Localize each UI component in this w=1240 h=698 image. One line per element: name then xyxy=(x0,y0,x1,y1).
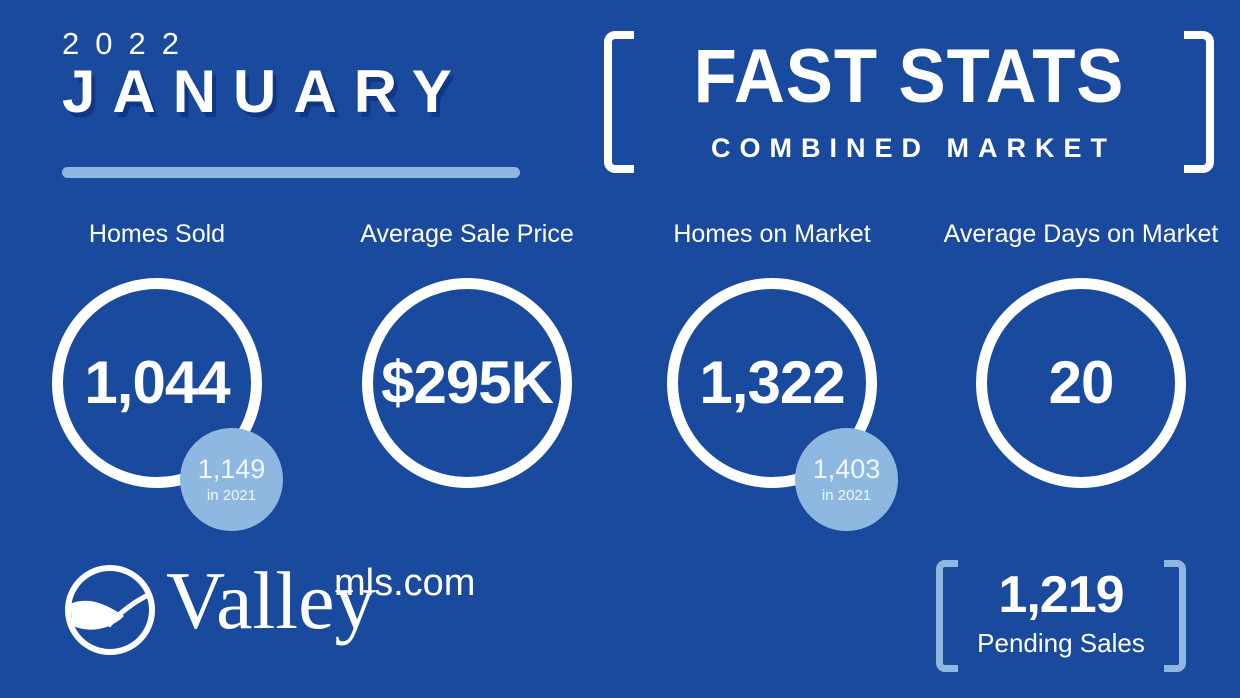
comparison-note: in 2021 xyxy=(207,488,256,503)
fast-stats-banner: FAST STATS COMBINED MARKET xyxy=(604,31,1214,173)
pending-sales-value: 1,219 xyxy=(936,569,1186,621)
valleymls-logo: Valley mls.com xyxy=(62,558,442,658)
stat-comparison-badge: 1,149 in 2021 xyxy=(180,428,283,531)
stat-label: Homes on Market xyxy=(673,222,870,247)
comparison-note: in 2021 xyxy=(822,488,871,503)
stat-value: $295K xyxy=(337,278,597,488)
fast-stats-title: FAST STATS xyxy=(625,39,1192,115)
fast-stats-infographic: 2022 JANUARY FAST STATS COMBINED MARKET … xyxy=(0,0,1240,698)
header-divider-rule xyxy=(62,167,520,178)
comparison-value: 1,403 xyxy=(813,456,881,483)
comparison-value: 1,149 xyxy=(198,456,266,483)
fast-stats-subtitle: COMBINED MARKET xyxy=(604,135,1214,162)
logo-tld: mls.com xyxy=(334,564,475,602)
stat-comparison-badge: 1,403 in 2021 xyxy=(795,428,898,531)
stat-label: Average Days on Market xyxy=(944,222,1219,247)
header-month: JANUARY xyxy=(62,62,469,122)
stat-label: Homes Sold xyxy=(89,222,225,247)
stat-value: 20 xyxy=(951,278,1211,488)
pending-sales-block: 1,219 Pending Sales xyxy=(936,560,1186,672)
valley-circle-icon xyxy=(62,564,158,656)
pending-sales-label: Pending Sales xyxy=(936,630,1186,656)
header-year: 2022 xyxy=(62,28,195,59)
stat-label: Average Sale Price xyxy=(360,222,574,247)
